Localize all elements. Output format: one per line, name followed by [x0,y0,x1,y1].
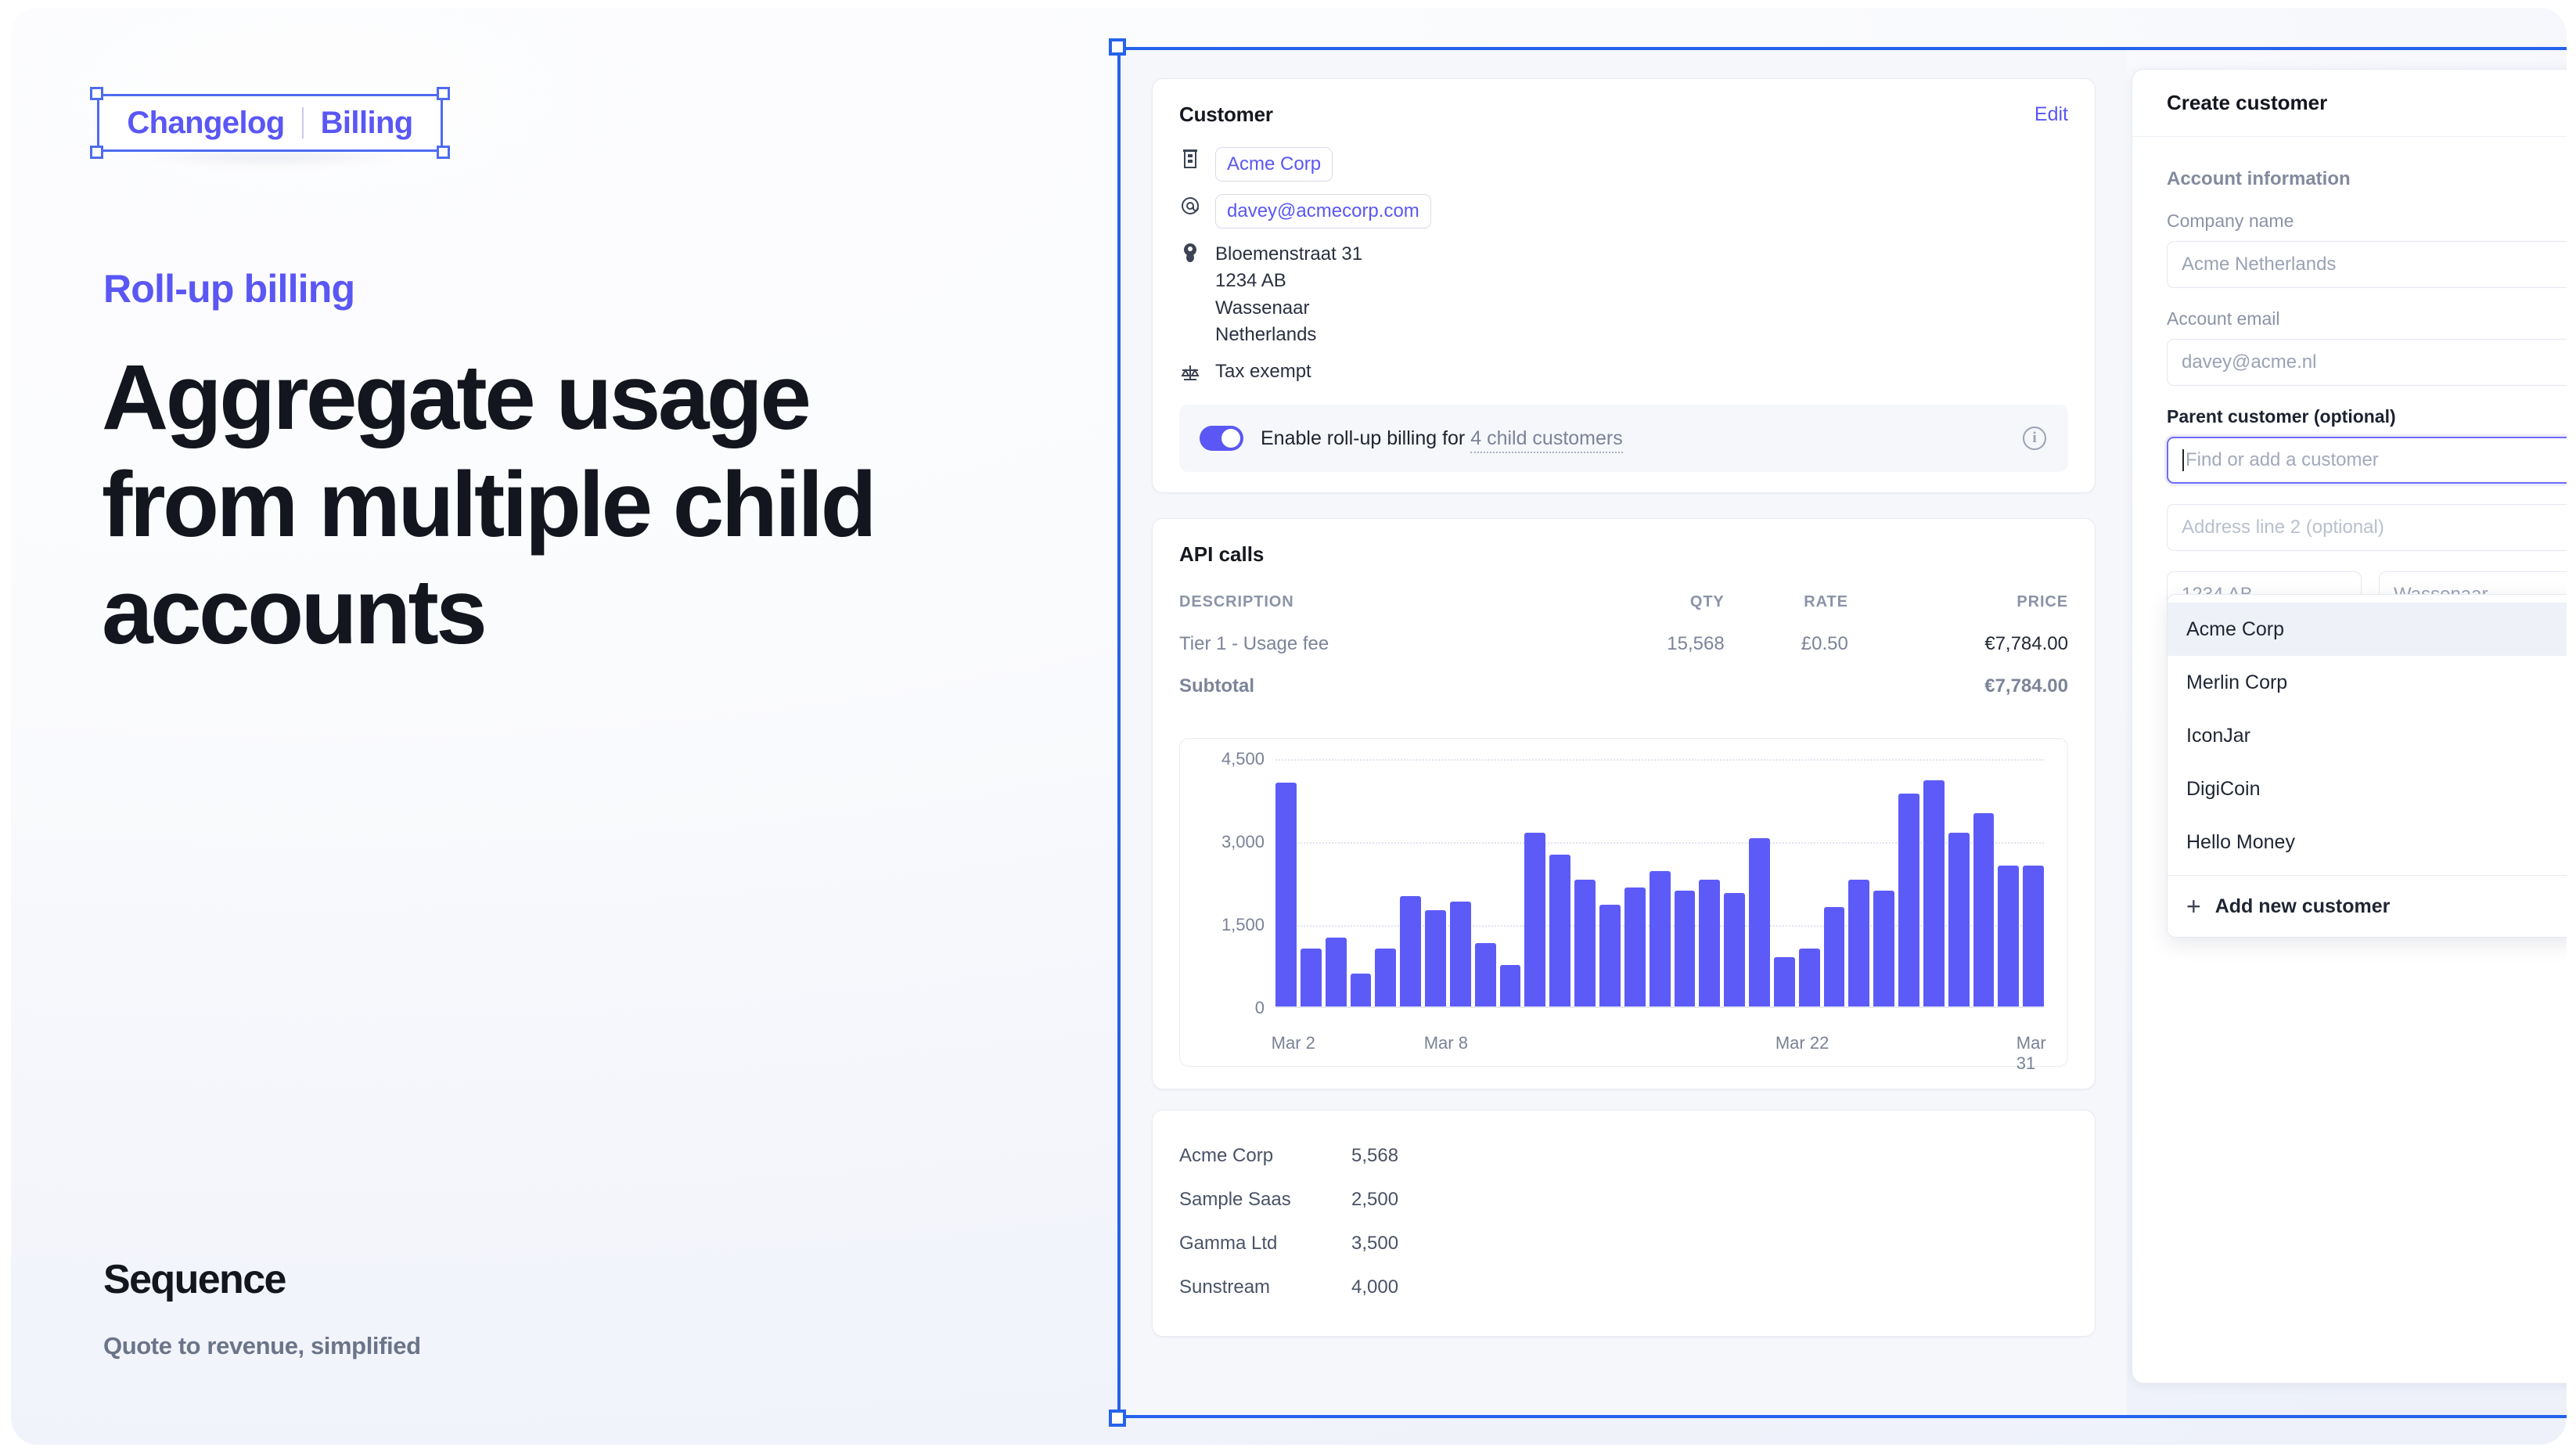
address-line-2-input[interactable]: Address line 2 (optional) [2167,504,2567,551]
chart-bar[interactable] [1998,866,2019,1006]
table-row: Gamma Ltd3,500 [1179,1222,2068,1266]
changelog-badge[interactable]: Changelog Billing [97,94,443,152]
row-price: €7,784.00 [1848,633,2068,675]
at-sign-icon [1179,194,1201,218]
chart-bar[interactable] [1275,783,1297,1006]
customer-company-chip[interactable]: Acme Corp [1215,147,1333,182]
chart-bar[interactable] [2023,866,2044,1006]
column-rate: RATE [1725,593,1848,633]
page-headline: Aggregate usage from multiple child acco… [102,344,962,666]
parent-customer-dropdown: Acme CorpMerlin CorpIconJarDigiCoinHello… [2167,594,2567,938]
breakdown-customer-name: Sample Saas [1179,1189,1351,1211]
edit-customer-link[interactable]: Edit [2035,103,2068,126]
breakdown-customer-name: Gamma Ltd [1179,1233,1351,1255]
chart-plot [1275,759,2044,1008]
eyebrow-label: Roll-up billing [103,266,354,311]
chart-bar[interactable] [1873,891,1894,1006]
rollup-billing-row: Enable roll-up billing for 4 child custo… [1179,405,2068,472]
api-calls-title: API calls [1179,542,2068,567]
breakdown-customer-value: 2,500 [1351,1189,1398,1211]
add-new-customer-label: Add new customer [2215,895,2391,918]
customer-card-header: Customer Edit [1179,103,2068,127]
customer-card-title: Customer [1179,103,1273,127]
chart-bar[interactable] [1375,949,1396,1006]
badge-divider [302,107,304,139]
chart-bar[interactable] [1973,813,1995,1006]
chart-bar[interactable] [1450,902,1471,1006]
table-row: Sample Saas2,500 [1179,1178,2068,1222]
row-qty: 15,568 [1573,633,1724,675]
company-name-label: Company name [2167,211,2567,232]
chart-bar[interactable] [1549,855,1570,1006]
y-tick-label: 4,500 [1221,749,1265,769]
y-tick-label: 0 [1255,998,1265,1018]
frame-handle-bottom-left[interactable] [1109,1410,1126,1427]
table-row: Acme Corp5,568 [1179,1134,2068,1178]
y-tick-label: 1,500 [1221,915,1265,935]
create-customer-title: Create customer [2132,70,2567,137]
chart-bar[interactable] [1799,949,1820,1006]
subtotal-label: Subtotal [1179,675,1573,718]
screenshot-root: Changelog Billing Roll-up billing Aggreg… [0,0,2576,1451]
chart-bar[interactable] [1351,974,1372,1006]
chart-bar[interactable] [1898,794,1919,1006]
breakdown-customer-value: 3,500 [1351,1233,1398,1255]
create-customer-panel: Create customer Account information Comp… [2132,69,2567,1384]
rollup-prefix-label: Enable roll-up billing for [1261,427,1465,449]
account-email-input[interactable]: davey@acme.nl [2167,339,2567,386]
chart-bar[interactable] [1400,896,1421,1006]
child-customers-link[interactable]: 4 child customers [1470,427,1623,453]
customer-breakdown-card: Acme Corp5,568Sample Saas2,500Gamma Ltd3… [1152,1110,2096,1337]
chart-bar[interactable] [1650,871,1671,1006]
add-new-customer-option[interactable]: + Add new customer [2168,876,2567,937]
chart-bar[interactable] [1475,943,1496,1006]
info-icon[interactable]: i [2023,427,2046,450]
account-email-label: Account email [2167,308,2567,329]
badge-billing-label: Billing [321,107,413,139]
marketing-panel: Changelog Billing Roll-up billing Aggreg… [11,8,1106,1445]
table-row: Tier 1 - Usage fee 15,568 £0.50 €7,784.0… [1179,633,2068,675]
badge-changelog-label: Changelog [127,107,284,139]
column-qty: QTY [1573,593,1724,633]
chart-bar[interactable] [1500,965,1521,1006]
breakdown-customer-value: 4,000 [1351,1276,1398,1298]
api-calls-card: API calls DESCRIPTION QTY RATE PRICE Tie… [1152,518,2096,1089]
parent-customer-placeholder: Find or add a customer [2186,449,2379,471]
row-description: Tier 1 - Usage fee [1179,633,1573,675]
customer-address-text: Bloemenstraat 31 1234 AB Wassenaar Nethe… [1215,241,1362,348]
brand-logo-text: Sequence [103,1256,286,1303]
chart-bar[interactable] [1749,838,1770,1007]
dropdown-option[interactable]: DigiCoin [2168,762,2567,816]
chart-bar[interactable] [1524,833,1545,1007]
page-surface: Changelog Billing Roll-up billing Aggreg… [11,8,2567,1445]
x-tick-label: Mar 31 [2017,1033,2046,1074]
chart-bar[interactable] [1724,893,1745,1006]
dropdown-option[interactable]: Acme Corp [2168,603,2567,656]
parent-customer-input[interactable]: Find or add a customer [2167,437,2567,484]
selection-handle-bottom-right[interactable] [437,146,450,159]
chart-bar[interactable] [1301,949,1322,1006]
api-calls-table: DESCRIPTION QTY RATE PRICE Tier 1 - Usag… [1179,593,2068,718]
y-tick-label: 3,000 [1221,832,1265,852]
parent-customer-label: Parent customer (optional) [2167,406,2567,427]
chart-bars [1275,759,2044,1006]
location-pin-icon [1179,241,1201,265]
x-tick-label: Mar 8 [1424,1033,1468,1053]
chart-bar[interactable] [1923,780,1945,1007]
subtotal-row: Subtotal €7,784.00 [1179,675,2068,718]
chart-x-axis: Mar 2Mar 8Mar 22Mar 31 [1255,1033,2044,1060]
chart-bar[interactable] [1774,957,1795,1007]
dropdown-option[interactable]: Merlin Corp [2168,656,2567,709]
chart-plot-area: 01,5003,0004,500 [1200,759,2044,1008]
account-information-label: Account information [2167,168,2567,190]
chart-bar[interactable] [1425,910,1446,1007]
customer-card: Customer Edit Acme Corp [1152,78,2096,493]
customer-email-row: davey@acmecorp.com [1179,194,2068,229]
dropdown-option[interactable]: Hello Money [2168,816,2567,869]
breakdown-customer-value: 5,568 [1351,1145,1398,1167]
app-preview-panel: Customer Edit Acme Corp [1121,50,2127,1418]
customer-tax-row: Tax exempt [1179,361,2068,384]
table-row: Sunstream4,000 [1179,1266,2068,1309]
create-customer-form: Account information Company name Acme Ne… [2132,137,2567,851]
breakdown-customer-name: Acme Corp [1179,1145,1351,1167]
scales-icon [1179,361,1201,384]
chart-bar[interactable] [1824,907,1845,1006]
x-tick-label: Mar 22 [1775,1033,1829,1053]
text-caret [2182,449,2184,471]
chart-bar[interactable] [1948,833,1970,1007]
breakdown-customer-name: Sunstream [1179,1276,1351,1298]
customer-tax-status: Tax exempt [1215,361,1311,383]
column-description: DESCRIPTION [1179,593,1573,633]
usage-bar-chart: 01,5003,0004,500 Mar 2Mar 8Mar 22Mar 31 [1179,738,2068,1067]
x-tick-label: Mar 2 [1272,1033,1315,1053]
chart-bar[interactable] [1624,888,1646,1006]
rollup-billing-text: Enable roll-up billing for 4 child custo… [1261,427,2006,450]
chart-bar[interactable] [1699,880,1720,1007]
selection-handle-bottom-left[interactable] [90,146,103,159]
changelog-badge-selection: Changelog Billing [97,94,443,152]
selection-handle-top-left[interactable] [90,87,103,100]
column-price: PRICE [1848,593,2068,633]
chart-bar[interactable] [1848,880,1869,1007]
chart-bar[interactable] [1599,905,1621,1007]
dropdown-option[interactable]: IconJar [2168,709,2567,762]
table-header-row: DESCRIPTION QTY RATE PRICE [1179,593,2068,633]
badge-drop-shadow [106,153,435,174]
chart-bar[interactable] [1326,938,1347,1006]
rollup-billing-toggle[interactable] [1200,426,1243,451]
chart-bar[interactable] [1675,891,1696,1006]
chart-y-axis: 01,5003,0004,500 [1200,759,1275,1008]
frame-handle-top-left[interactable] [1109,38,1126,56]
row-rate: £0.50 [1725,633,1848,675]
selection-handle-top-right[interactable] [437,87,450,100]
subtotal-value: €7,784.00 [1848,675,2068,718]
brand-tagline: Quote to revenue, simplified [103,1332,421,1360]
customer-address-row: Bloemenstraat 31 1234 AB Wassenaar Nethe… [1179,241,2068,348]
customer-email-chip[interactable]: davey@acmecorp.com [1215,194,1431,229]
customer-company-row: Acme Corp [1179,147,2068,182]
building-icon [1179,147,1201,171]
plus-icon: + [2186,894,2201,919]
company-name-input[interactable]: Acme Netherlands [2167,241,2567,288]
chart-bar[interactable] [1574,880,1596,1007]
